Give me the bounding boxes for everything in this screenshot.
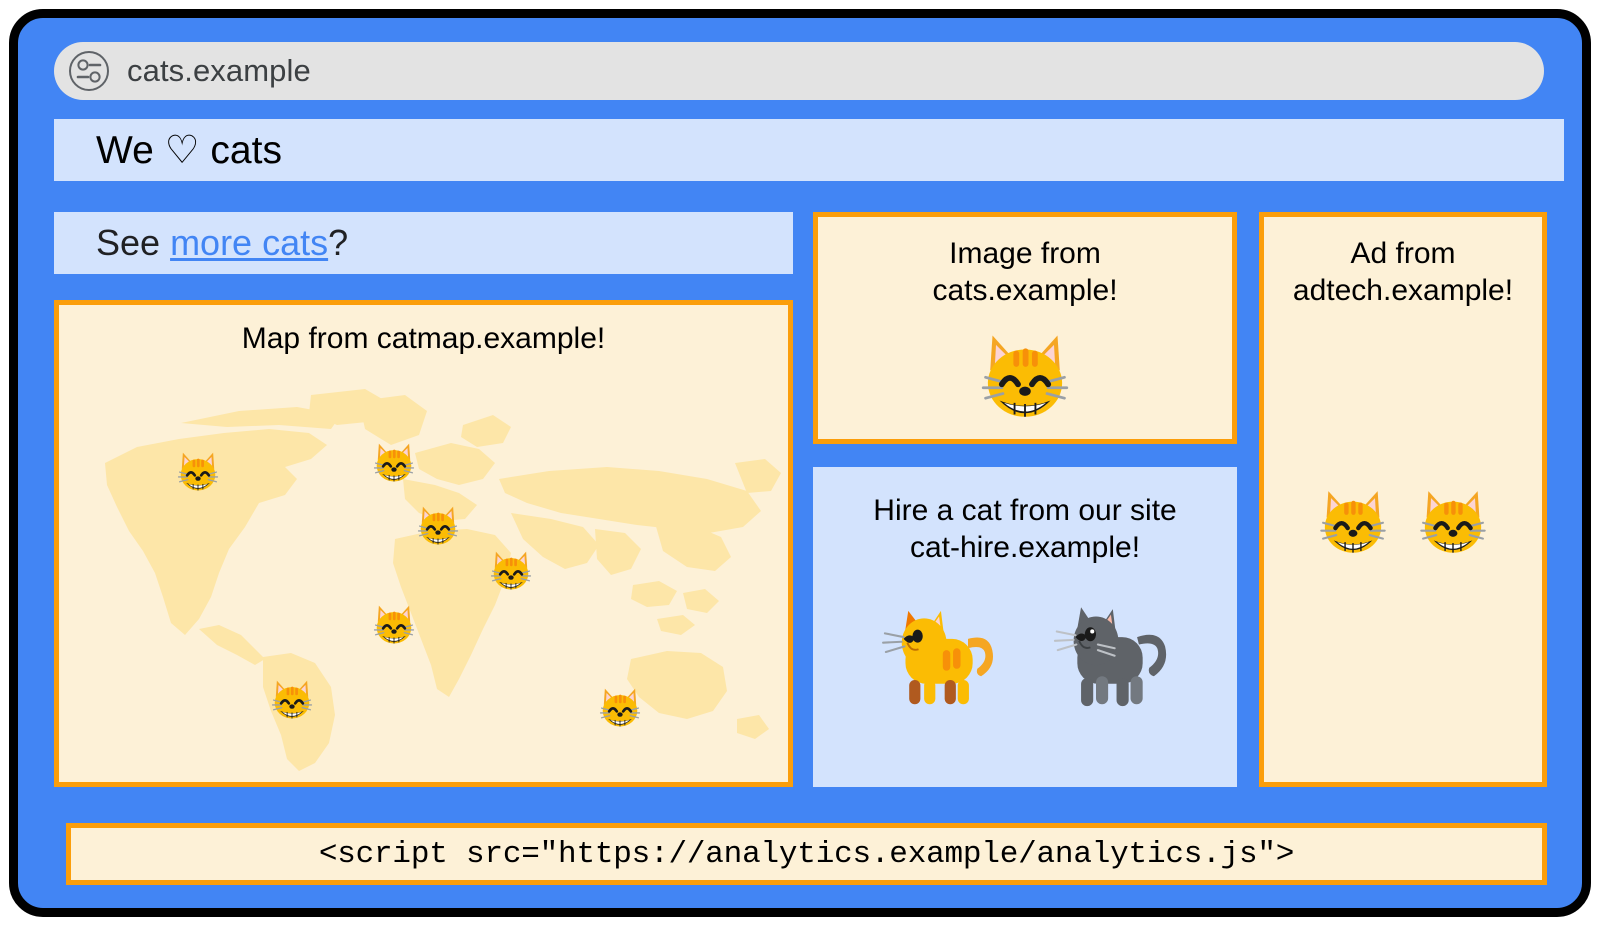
grinning-cat-face-icon [593, 680, 647, 734]
map-pin[interactable] [265, 672, 319, 726]
link-suffix-text: ? [328, 222, 348, 263]
browser-window: cats.example We ♡ cats See more cats? Ma… [9, 9, 1591, 917]
map-pin[interactable] [484, 543, 538, 597]
grinning-cat-face-icon [411, 498, 465, 552]
image-panel: Image from cats.example! [813, 212, 1237, 444]
hire-panel: Hire a cat from our site cat-hire.exampl… [813, 467, 1237, 787]
grinning-cat-face-icon [171, 444, 225, 498]
orange-cat-icon [870, 590, 1010, 714]
map-pin[interactable] [593, 680, 647, 734]
map-pin[interactable] [367, 435, 421, 489]
hire-panel-art [870, 590, 1180, 714]
map-panel-title: Map from catmap.example! [59, 321, 788, 358]
map-panel: Map from catmap.example! [54, 300, 793, 787]
more-cats-link[interactable]: more cats [170, 222, 328, 263]
page-heading-bar: We ♡ cats [54, 119, 1564, 181]
ad-panel-art [1309, 477, 1497, 565]
more-cats-bar: See more cats? [54, 212, 793, 274]
script-tag-code: <script src="https://analytics.example/a… [319, 837, 1294, 872]
grinning-cat-face-icon [367, 435, 421, 489]
map-pin[interactable] [411, 498, 465, 552]
link-prefix-text: See [96, 222, 170, 263]
grinning-cat-face-icon [1309, 477, 1397, 565]
map-pin[interactable] [367, 597, 421, 651]
map-pin[interactable] [171, 444, 225, 498]
image-panel-title: Image from cats.example! [932, 236, 1117, 309]
world-map [59, 367, 788, 782]
address-bar[interactable]: cats.example [54, 42, 1544, 100]
grinning-cat-face-icon [367, 597, 421, 651]
tune-icon[interactable] [67, 49, 111, 93]
hire-panel-title: Hire a cat from our site cat-hire.exampl… [873, 493, 1176, 566]
ad-panel: Ad from adtech.example! [1259, 212, 1547, 787]
grinning-cat-face-icon [265, 672, 319, 726]
link-line: See more cats? [96, 222, 348, 264]
grinning-cat-face-icon [484, 543, 538, 597]
ad-panel-title: Ad from adtech.example! [1293, 236, 1513, 309]
script-tag-bar: <script src="https://analytics.example/a… [66, 823, 1547, 885]
address-url-text: cats.example [127, 53, 311, 89]
grinning-cat-face-icon [1409, 477, 1497, 565]
page-title: We ♡ cats [96, 128, 282, 173]
grinning-cat-face-icon [967, 317, 1083, 433]
world-map-landmasses [59, 367, 788, 782]
grey-cat-icon [1040, 590, 1180, 714]
